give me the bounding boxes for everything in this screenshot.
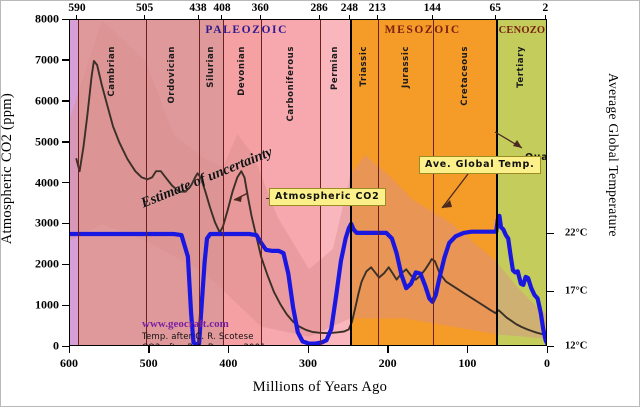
period-label-carboniferous: Carboniferous [286, 46, 296, 121]
boundary-line-144 [433, 20, 434, 345]
era-boundary-248 [350, 20, 352, 345]
plot-area: CambrianOrdovicianSilurianDevonianCarbon… [69, 19, 547, 346]
top-tick-65: 65 [489, 2, 501, 14]
y-tickmark-3000 [62, 223, 69, 224]
data-curves [70, 20, 547, 346]
era-label-cenozoic: CENOZOIC [499, 25, 547, 36]
era-boundary-65 [496, 20, 498, 345]
era-label-mesozoic: MESOZOIC [385, 24, 461, 36]
y-tickmark-2000 [62, 264, 69, 265]
x-tickmark-400 [228, 346, 229, 353]
top-tick-213: 213 [369, 2, 386, 14]
period-label-silurian: Silurian [206, 46, 216, 88]
callout-atmospheric-co2: Atmospheric CO2 [269, 188, 386, 206]
top-tickmark-505 [144, 15, 145, 19]
top-tickmark-590 [76, 15, 77, 19]
top-tickmark-286 [319, 15, 320, 19]
r-tick-12: 12°C [565, 341, 587, 352]
credit-co2-source: CO2 after R.A. Berner, 2001 [142, 343, 266, 346]
period-label-devonian: Devonian [237, 46, 247, 96]
period-label-ordovician: Ordovician [167, 46, 177, 104]
y-tick-6000: 6000 [15, 93, 59, 108]
boundary-line-590 [78, 20, 79, 345]
y-tickmark-8000 [62, 19, 69, 20]
period-label-cretaceous: Cretaceous [460, 46, 470, 106]
credit-temp-source: Temp. after C. R. Scotese [142, 332, 266, 343]
y-tickmark-7000 [62, 59, 69, 60]
x-tick-400: 400 [219, 356, 237, 371]
y2-axis-title: Average Global Temperature [605, 73, 621, 237]
y-axis-title: Atmospheric CO2 (ppm) [0, 93, 19, 244]
x-tickmark-500 [148, 346, 149, 353]
y-tickmark-1000 [62, 305, 69, 306]
boundary-line-360 [261, 20, 262, 345]
top-tickmark-248 [349, 15, 350, 19]
x-tick-500: 500 [140, 356, 158, 371]
top-tickmark-144 [432, 15, 433, 19]
y-tick-8000: 8000 [15, 12, 59, 27]
top-tick-505: 505 [136, 2, 153, 14]
top-tickmark-213 [377, 15, 378, 19]
y-tick-5000: 5000 [15, 134, 59, 149]
x-tickmark-100 [467, 346, 468, 353]
period-label-cambrian: Cambrian [107, 46, 117, 97]
x-axis-title: Millions of Years Ago [1, 379, 639, 396]
r-tick-22: 22°C [565, 228, 587, 239]
boundary-line-408 [223, 20, 224, 345]
top-tick-286: 286 [311, 2, 328, 14]
boundary-line-286 [320, 20, 321, 345]
top-tick-144: 144 [424, 2, 441, 14]
x-tick-200: 200 [379, 356, 397, 371]
y-tickmark-6000 [62, 100, 69, 101]
top-tick-438: 438 [189, 2, 206, 14]
y-tick-7000: 7000 [15, 52, 59, 67]
x-tickmark-300 [308, 346, 309, 353]
top-tickmark-65 [495, 15, 496, 19]
y-tick-2000: 2000 [15, 257, 59, 272]
credit-website[interactable]: www.geocraft.com [142, 317, 266, 332]
y-tick-3000: 3000 [15, 216, 59, 231]
top-tick-2: 2 [543, 2, 549, 14]
period-label-tertiary: Tertiary [516, 46, 526, 88]
top-tickmark-2 [545, 15, 546, 19]
top-tickmark-360 [260, 15, 261, 19]
x-tick-300: 300 [299, 356, 317, 371]
boundary-line-213 [378, 20, 379, 345]
x-tickmark-600 [69, 346, 70, 353]
top-tickmark-438 [198, 15, 199, 19]
y-tickmark-4000 [62, 182, 69, 183]
y-tick-4000: 4000 [15, 175, 59, 190]
y-tick-1000: 1000 [15, 298, 59, 313]
x-tickmark-0 [547, 346, 548, 353]
top-tick-248: 248 [341, 2, 358, 14]
boundary-line-505 [146, 20, 147, 345]
r-tickmark-17 [547, 291, 554, 292]
chart-figure: CambrianOrdovicianSilurianDevonianCarbon… [0, 0, 640, 407]
top-tick-408: 408 [213, 2, 230, 14]
r-tickmark-22 [547, 233, 554, 234]
period-label-jurassic: Jurassic [401, 46, 411, 88]
x-tick-100: 100 [458, 356, 476, 371]
r-tickmark-12 [547, 346, 554, 347]
period-label-permian: Permian [330, 46, 340, 90]
callout-ave-global-temp: Ave. Global Temp. [419, 156, 541, 174]
period-label-triassic: Triassic [359, 46, 369, 87]
top-tickmark-408 [221, 15, 222, 19]
y-tick-0: 0 [15, 339, 59, 354]
top-tick-360: 360 [252, 2, 269, 14]
y-tickmark-5000 [62, 141, 69, 142]
r-tick-17: 17°C [565, 286, 587, 297]
credits-block: www.geocraft.com Temp. after C. R. Scote… [142, 317, 266, 346]
top-tick-590: 590 [68, 2, 85, 14]
era-label-paleozoic: PALEOZOIC [205, 24, 288, 36]
x-tick-0: 0 [544, 356, 550, 371]
x-tick-600: 600 [60, 356, 78, 371]
x-tickmark-200 [387, 346, 388, 353]
